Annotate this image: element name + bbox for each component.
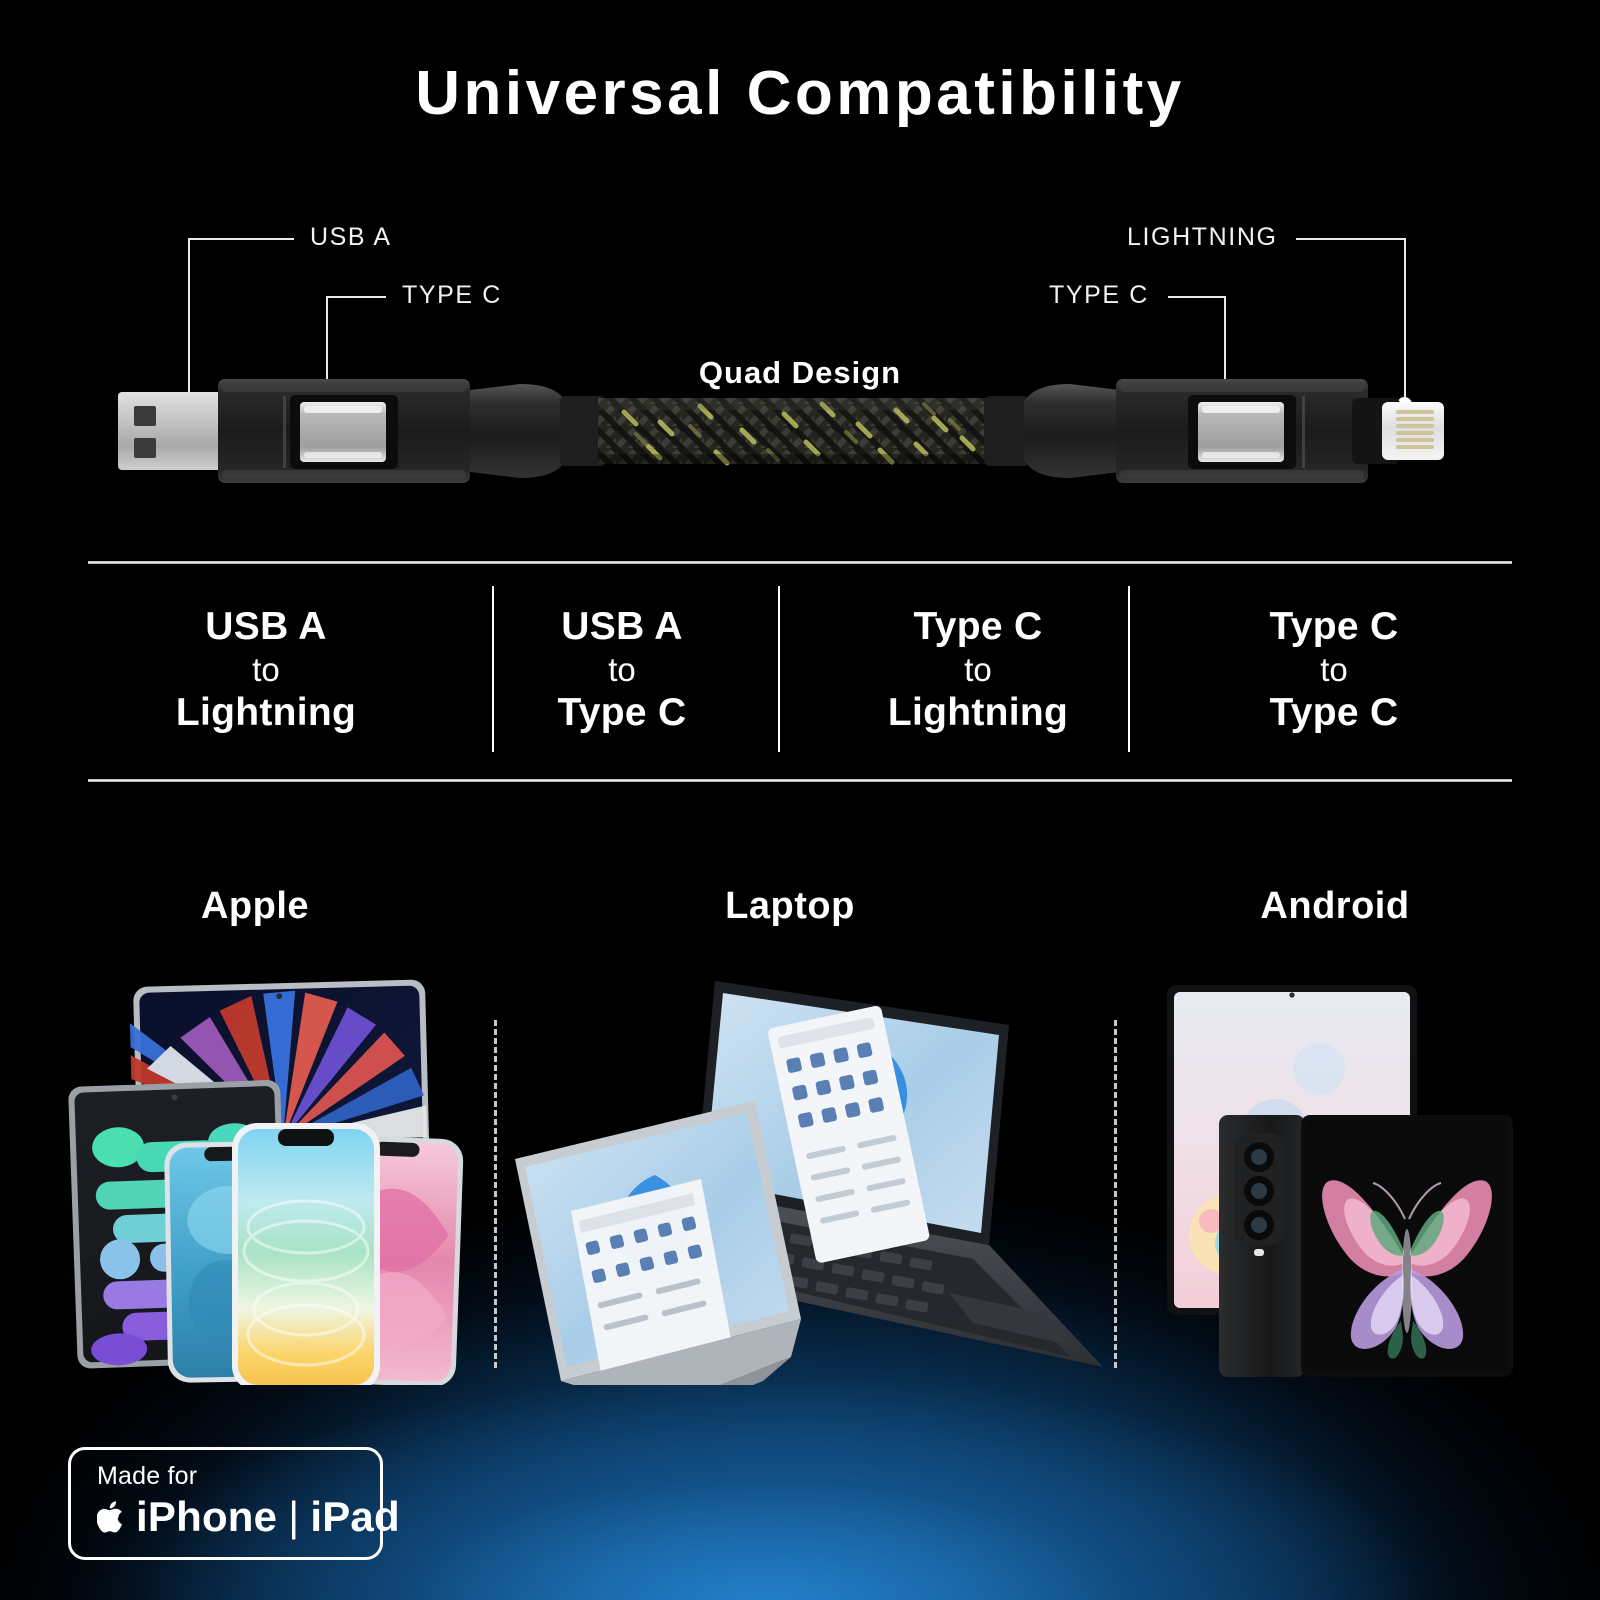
laptop-device-group xyxy=(505,955,1105,1385)
spec-item-type-c-to-lightning: Type C to Lightning xyxy=(800,575,1156,765)
spec-target: Lightning xyxy=(88,691,444,735)
infographic-canvas: Universal Compatibility USB A TYPE C LIG… xyxy=(0,0,1600,1600)
spec-from: USB A xyxy=(88,605,444,649)
callout-label-type-c-left: TYPE C xyxy=(402,281,502,310)
mfi-badge: Made for iPhone | iPad xyxy=(68,1447,383,1560)
leader-line-lightning-h xyxy=(1296,238,1406,240)
device-divider-2 xyxy=(1114,1020,1117,1368)
mfi-brands: iPhone | iPad xyxy=(97,1496,380,1538)
spec-from: Type C xyxy=(1156,605,1512,649)
spec-connector: to xyxy=(1156,651,1512,689)
leader-line-type-c-right-h xyxy=(1168,296,1226,298)
mfi-ipad-label: iPad xyxy=(310,1496,400,1538)
callout-label-type-c-right: TYPE C xyxy=(1049,281,1149,310)
spec-item-usb-a-to-lightning: USB A to Lightning xyxy=(88,575,444,765)
callout-label-usb-a-left: USB A xyxy=(310,223,392,252)
spec-item-usb-a-to-type-c: USB A to Type C xyxy=(444,575,800,765)
spec-connector: to xyxy=(444,651,800,689)
mfi-made-for-text: Made for xyxy=(97,1464,380,1489)
device-category-android-label: Android xyxy=(1175,885,1495,928)
spec-item-type-c-to-type-c: Type C to Type C xyxy=(1156,575,1512,765)
spec-target: Type C xyxy=(1156,691,1512,735)
android-device-group xyxy=(1145,975,1545,1385)
mfi-separator: | xyxy=(286,1496,301,1538)
spec-connector: to xyxy=(800,651,1156,689)
spec-target: Lightning xyxy=(800,691,1156,735)
mfi-iphone-label: iPhone xyxy=(136,1496,277,1538)
device-category-apple-label: Apple xyxy=(95,885,415,928)
cable-illustration xyxy=(0,360,1600,510)
spec-connector: to xyxy=(88,651,444,689)
spec-row: USB A to Lightning USB A to Type C Type … xyxy=(88,575,1512,765)
page-title: Universal Compatibility xyxy=(0,58,1600,129)
apple-device-group xyxy=(60,975,480,1385)
spec-rule-bottom xyxy=(88,779,1512,782)
device-divider-1 xyxy=(494,1020,497,1368)
spec-target: Type C xyxy=(444,691,800,735)
apple-logo-icon xyxy=(97,1499,127,1535)
spec-rule-top xyxy=(88,561,1512,564)
spec-from: USB A xyxy=(444,605,800,649)
leader-line-usb-a-left-h xyxy=(188,238,294,240)
callout-label-lightning-right: LIGHTNING xyxy=(1127,223,1278,252)
device-category-laptop-label: Laptop xyxy=(630,885,950,928)
leader-line-type-c-left-h xyxy=(326,296,386,298)
spec-from: Type C xyxy=(800,605,1156,649)
